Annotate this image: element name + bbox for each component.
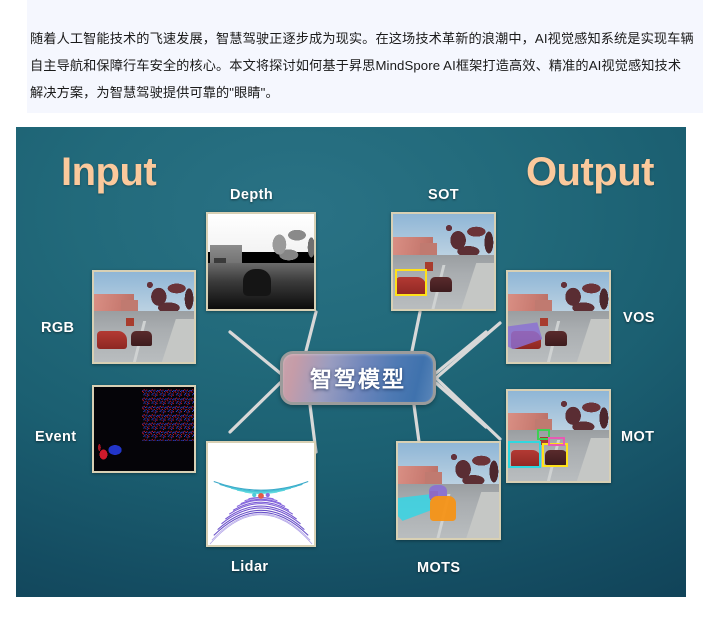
caption-depth: Depth: [230, 187, 273, 203]
caption-vos: VOS: [623, 310, 655, 326]
bbox-mot-vehicle-1: [508, 441, 541, 468]
thumbnail-event: [92, 385, 196, 473]
bbox-mot-vehicle-2: [542, 443, 567, 466]
bbox-sot-target: [395, 269, 427, 296]
event-camera-image: [94, 387, 194, 471]
multi-object-tracking-segmentation-image: [398, 443, 499, 538]
center-model-node: 智驾模型: [280, 351, 436, 405]
thumbnail-rgb: [92, 270, 196, 364]
caption-mot: MOT: [621, 429, 654, 445]
thumbnail-lidar: [206, 441, 316, 547]
thumbnail-sot: [391, 212, 496, 311]
center-model-node-label: 智驾模型: [310, 362, 406, 394]
video-object-segmentation-image: [508, 272, 609, 362]
caption-sot: SOT: [428, 187, 459, 203]
thumbnail-vos: [506, 270, 611, 364]
single-object-tracking-image: [393, 214, 494, 309]
lidar-pointcloud-image: [208, 443, 314, 545]
caption-rgb: RGB: [41, 320, 74, 336]
caption-mots: MOTS: [417, 560, 461, 576]
caption-lidar: Lidar: [231, 559, 268, 575]
thumbnail-mot: [506, 389, 611, 483]
mask-mots-vehicle-3: [430, 496, 455, 521]
thumbnail-mots: [396, 441, 501, 540]
caption-event: Event: [35, 429, 77, 445]
intro-text-block: 随着人工智能技术的飞速发展，智慧驾驶正逐步成为现实。在这场技术革新的浪潮中，AI…: [27, 0, 703, 113]
intro-paragraph: 随着人工智能技术的飞速发展，智慧驾驶正逐步成为现实。在这场技术革新的浪潮中，AI…: [30, 25, 694, 106]
ai-perception-architecture-figure: Input Output RGB: [16, 127, 686, 597]
rgb-camera-image: [94, 272, 194, 362]
depth-map-image: [208, 214, 314, 309]
bbox-mot-vehicle-4: [548, 437, 564, 446]
multi-object-tracking-image: [508, 391, 609, 481]
thumbnail-depth: [206, 212, 316, 311]
